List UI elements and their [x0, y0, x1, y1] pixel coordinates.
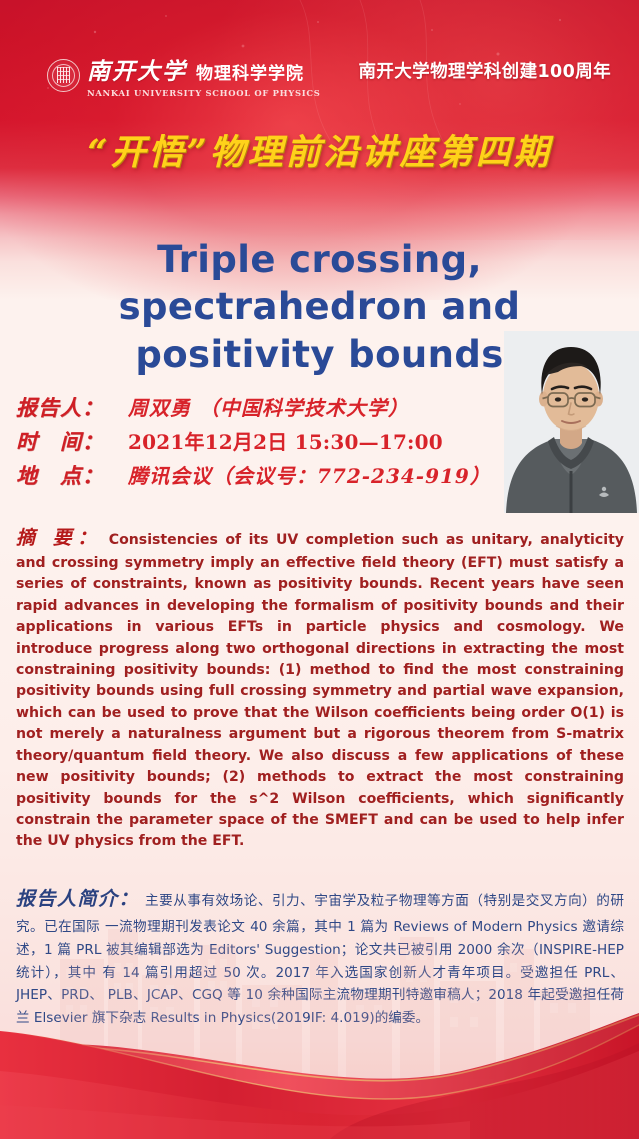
time-row: 时 间： 2021年12月2日 15:30—17:00 [16, 426, 496, 456]
logo-school-name: 物理科学学院 [196, 59, 304, 84]
speaker-row: 报告人： 周双勇 （中国科学技术大学） [16, 392, 496, 422]
abstract-text: Consistencies of its UV completion such … [16, 532, 624, 849]
logo-university-name: 南开大学 [87, 52, 187, 86]
place-label: 地 点： [16, 460, 128, 490]
abstract-label: 摘 要： [16, 527, 102, 549]
lecture-poster: 南开大学 物理科学学院 NANKAI UNIVERSITY SCHOOL OF … [0, 0, 639, 1139]
lecture-series-banner: “开悟”物理前沿讲座第四期 [0, 124, 639, 175]
lecture-details: 报告人： 周双勇 （中国科学技术大学） 时 间： 2021年12月2日 15:3… [16, 392, 496, 494]
university-logo: 南开大学 物理科学学院 NANKAI UNIVERSITY SCHOOL OF … [47, 52, 320, 98]
speaker-portrait [504, 331, 639, 513]
speaker-value: 周双勇 （中国科学技术大学） [128, 392, 409, 421]
time-label: 时 间： [16, 426, 128, 456]
place-value: 腾讯会议（会议号：772-234-919） [128, 460, 491, 489]
abstract-section: 摘 要：Consistencies of its UV completion s… [16, 524, 624, 853]
speaker-label: 报告人： [16, 392, 128, 422]
red-ribbon-decoration-icon [0, 1009, 639, 1139]
anniversary-text: 南开大学物理学科创建100周年 [358, 58, 611, 83]
place-row: 地 点： 腾讯会议（会议号：772-234-919） [16, 460, 496, 490]
university-seal-icon [47, 59, 80, 92]
time-value: 2021年12月2日 15:30—17:00 [128, 426, 443, 455]
logo-english-name: NANKAI UNIVERSITY SCHOOL OF PHYSICS [87, 88, 320, 98]
poster-header: 南开大学 物理科学学院 NANKAI UNIVERSITY SCHOOL OF … [0, 0, 639, 118]
